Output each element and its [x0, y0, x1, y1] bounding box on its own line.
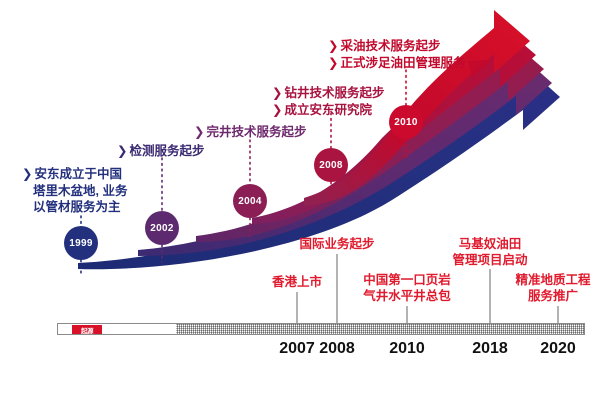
- callout-line: ❯成立安东研究院: [272, 102, 385, 119]
- label-2007[interactable]: 香港上市: [247, 274, 347, 290]
- label-line: 国际业务起步: [277, 236, 397, 252]
- bubble-label: 2004: [238, 196, 261, 207]
- label-line: 精准地质工程: [488, 272, 609, 288]
- chevron-marker-icon: ❯: [194, 125, 204, 139]
- callout-line: ❯正式涉足油田管理服务: [328, 55, 466, 72]
- bubble-label: 2002: [150, 223, 173, 234]
- chevron-marker-icon: ❯: [272, 103, 282, 117]
- chevron-marker-icon: ❯: [117, 144, 127, 158]
- bubble-2008[interactable]: 2008: [314, 148, 348, 182]
- chevron-marker-icon: ❯: [328, 56, 338, 70]
- chevron-marker-icon: ❯: [22, 167, 32, 181]
- label-line: 管理项目启动: [425, 252, 555, 268]
- label-2020[interactable]: 精准地质工程 服务推广: [488, 272, 609, 304]
- callout-line: ❯钻井技术服务起步: [272, 85, 385, 102]
- year-label-2010: 2010: [377, 340, 437, 358]
- bubble-1999[interactable]: 1999: [64, 226, 98, 260]
- callout-2010[interactable]: ❯采油技术服务起步 ❯正式涉足油田管理服务: [328, 38, 466, 71]
- callout-line: ❯检测服务起步: [117, 143, 205, 160]
- label-line: 马基奴油田: [425, 236, 555, 252]
- callout-1999[interactable]: ❯安东成立于中国 塔里木盆地, 业务 以管材服务为主: [22, 166, 127, 216]
- bubble-2010[interactable]: 2010: [389, 105, 423, 139]
- chevron-marker-icon: ❯: [272, 86, 282, 100]
- label-2008[interactable]: 国际业务起步: [277, 236, 397, 252]
- callout-2004[interactable]: ❯完井技术服务起步: [194, 124, 307, 141]
- callout-line: 以管材服务为主: [22, 199, 127, 216]
- axis-origin-badge-label: 起源: [81, 325, 93, 334]
- callout-line: 塔里木盆地, 业务: [22, 183, 127, 200]
- infographic-canvas: 1999 2002 2004 2008 2010 ❯安东成立于中国 塔里木盆地,…: [0, 0, 609, 400]
- year-label-2018: 2018: [460, 340, 520, 358]
- label-line: 气井水平井总包: [337, 288, 477, 304]
- year-label-2020: 2020: [528, 340, 588, 358]
- bubble-2004[interactable]: 2004: [233, 184, 267, 218]
- chevron-marker-icon: ❯: [328, 39, 338, 53]
- timeline-axis-bar: [57, 323, 585, 335]
- callout-line: ❯采油技术服务起步: [328, 38, 466, 55]
- callout-2002[interactable]: ❯检测服务起步: [117, 143, 205, 160]
- callout-line: ❯完井技术服务起步: [194, 124, 307, 141]
- year-label-2008: 2008: [307, 340, 367, 358]
- callout-2008[interactable]: ❯钻井技术服务起步 ❯成立安东研究院: [272, 85, 385, 118]
- label-2010[interactable]: 中国第一口页岩 气井水平井总包: [337, 272, 477, 304]
- bubble-label: 2008: [319, 160, 342, 171]
- label-line: 服务推广: [488, 288, 609, 304]
- label-2018[interactable]: 马基奴油田 管理项目启动: [425, 236, 555, 268]
- bubble-label: 1999: [69, 238, 92, 249]
- bubble-label: 2010: [394, 117, 417, 128]
- label-line: 中国第一口页岩: [337, 272, 477, 288]
- label-line: 香港上市: [247, 274, 347, 290]
- bubble-2002[interactable]: 2002: [145, 211, 179, 245]
- callout-line: ❯安东成立于中国: [22, 166, 127, 183]
- axis-origin-badge[interactable]: 起源: [72, 325, 102, 334]
